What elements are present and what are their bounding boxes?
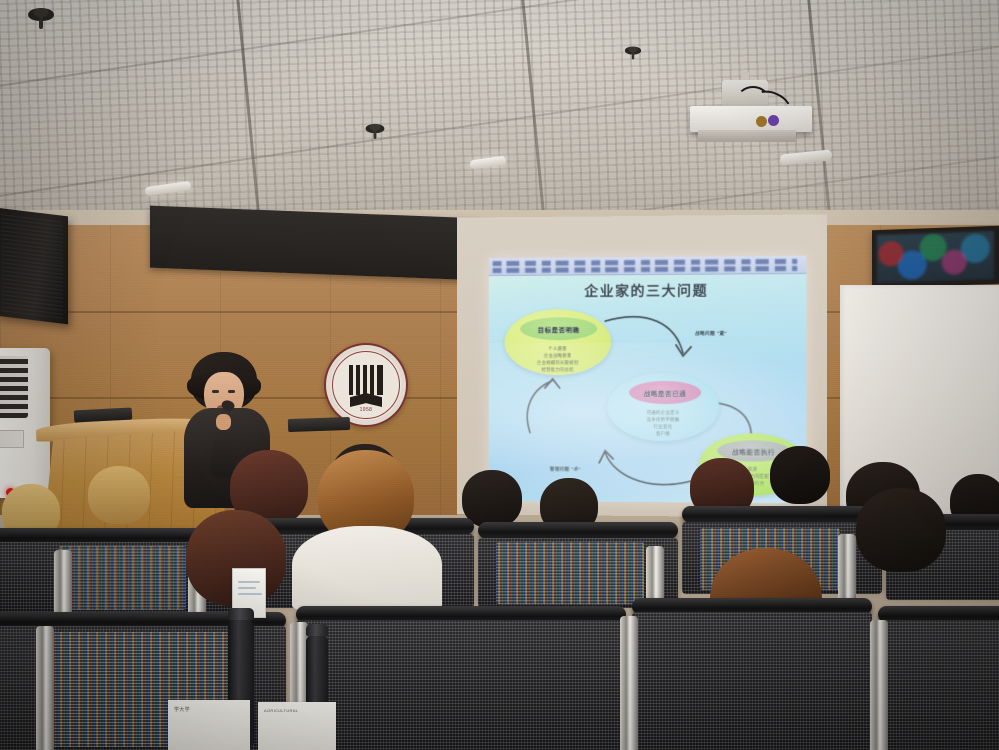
ceiling [0,0,999,238]
ac-vent [0,356,28,418]
handout-logo: AGRICULTURAL [264,708,298,713]
chair-arm [36,626,54,750]
water-bottle-cap[interactable] [228,608,254,620]
slide-appbar [489,256,807,276]
sprinkler-head [366,124,385,133]
water-bottle-cap[interactable] [306,624,328,636]
projector-connector [768,115,779,126]
presenter-eye [212,390,219,393]
attendee-head [770,446,830,504]
slide-annotation-top-right: 战略问题 "道" [695,331,727,337]
chair-arm [870,620,888,750]
lecture-hall-photo: 1958 企业家的三大问题 [0,0,999,750]
emblem-wheat-icon [349,365,383,395]
audience: 学大学 AGRICULTURAL [0,430,999,750]
attendee-shoulders [292,526,442,610]
chair-back[interactable] [296,620,626,750]
speaker-grill [1,213,63,319]
slide-bubble-goal-details: 个人愿景 企业战略愿景 企业规模的长期规划 经营能力的总结 [504,345,611,373]
handout-document[interactable]: AGRICULTURAL [258,702,336,750]
presenter-hand [216,414,231,430]
handout-logo: 学大学 [174,706,190,713]
slide-title: 企业家的三大问题 [489,280,807,302]
slide-bubble-goal: 目标是否明确 个人愿景 企业战略愿景 企业规模的长期规划 经营能力的总结 [504,309,611,375]
chair-back[interactable] [632,612,872,750]
sprinkler-head [28,8,54,21]
ceiling-projector [690,78,812,136]
artwork-canvas [877,231,994,283]
wall-dark-panel [150,206,480,281]
chair-back[interactable] [878,620,999,750]
chair-arm [620,616,638,750]
attendee-head [856,488,946,572]
presenter-eye [228,390,235,393]
slide-bubble-strategy-heading: 战略是否已通 [629,381,701,404]
chair-headrest[interactable] [478,522,678,539]
chair-mesh [496,542,644,604]
university-emblem: 1958 [324,343,408,427]
ceiling-grid [0,0,999,238]
handout-document[interactable]: 学大学 [168,700,250,750]
attendee-head [88,466,150,524]
framed-artwork [872,226,999,288]
slide-bubble-goal-heading: 目标是否明确 [520,317,597,340]
projector-connector [756,116,767,127]
wall-speaker [0,208,68,325]
emblem-year: 1958 [326,407,406,413]
chair-headrest[interactable] [682,506,882,523]
sprinkler-head [625,46,641,54]
chair-mesh [58,546,186,610]
